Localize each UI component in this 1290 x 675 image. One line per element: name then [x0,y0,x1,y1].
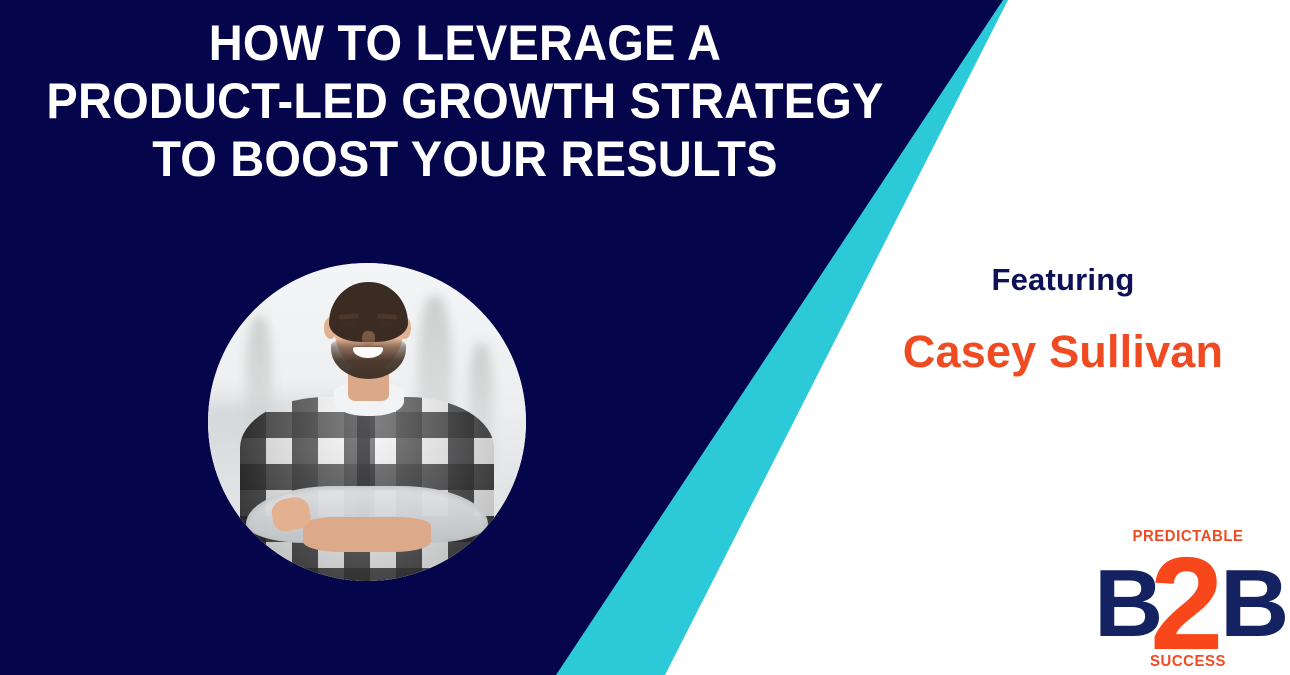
title-line-2: PRODUCT-LED GROWTH STRATEGY [28,72,902,130]
portrait-forearm [303,517,430,552]
featuring-label: Featuring [863,262,1263,298]
speaker-name: Casey Sullivan [863,326,1263,378]
title-line-1: HOW TO LEVERAGE A [28,14,902,72]
b2b-success-logo: PREDICTABLE B 2 B SUCCESS [1092,528,1284,673]
speaker-portrait-avatar [208,263,526,581]
webinar-title-slide: HOW TO LEVERAGE A PRODUCT-LED GROWTH STR… [0,0,1290,675]
logo-wordmark: B 2 B [1092,542,1284,652]
logo-numeral-two: 2 [1150,538,1223,670]
page-title: HOW TO LEVERAGE A PRODUCT-LED GROWTH STR… [0,14,930,188]
logo-letter-b-right: B [1220,556,1289,652]
portrait-eye-right [380,322,394,328]
logo-bottom-word: SUCCESS [1096,653,1280,671]
title-line-3: TO BOOST YOUR RESULTS [28,130,902,188]
